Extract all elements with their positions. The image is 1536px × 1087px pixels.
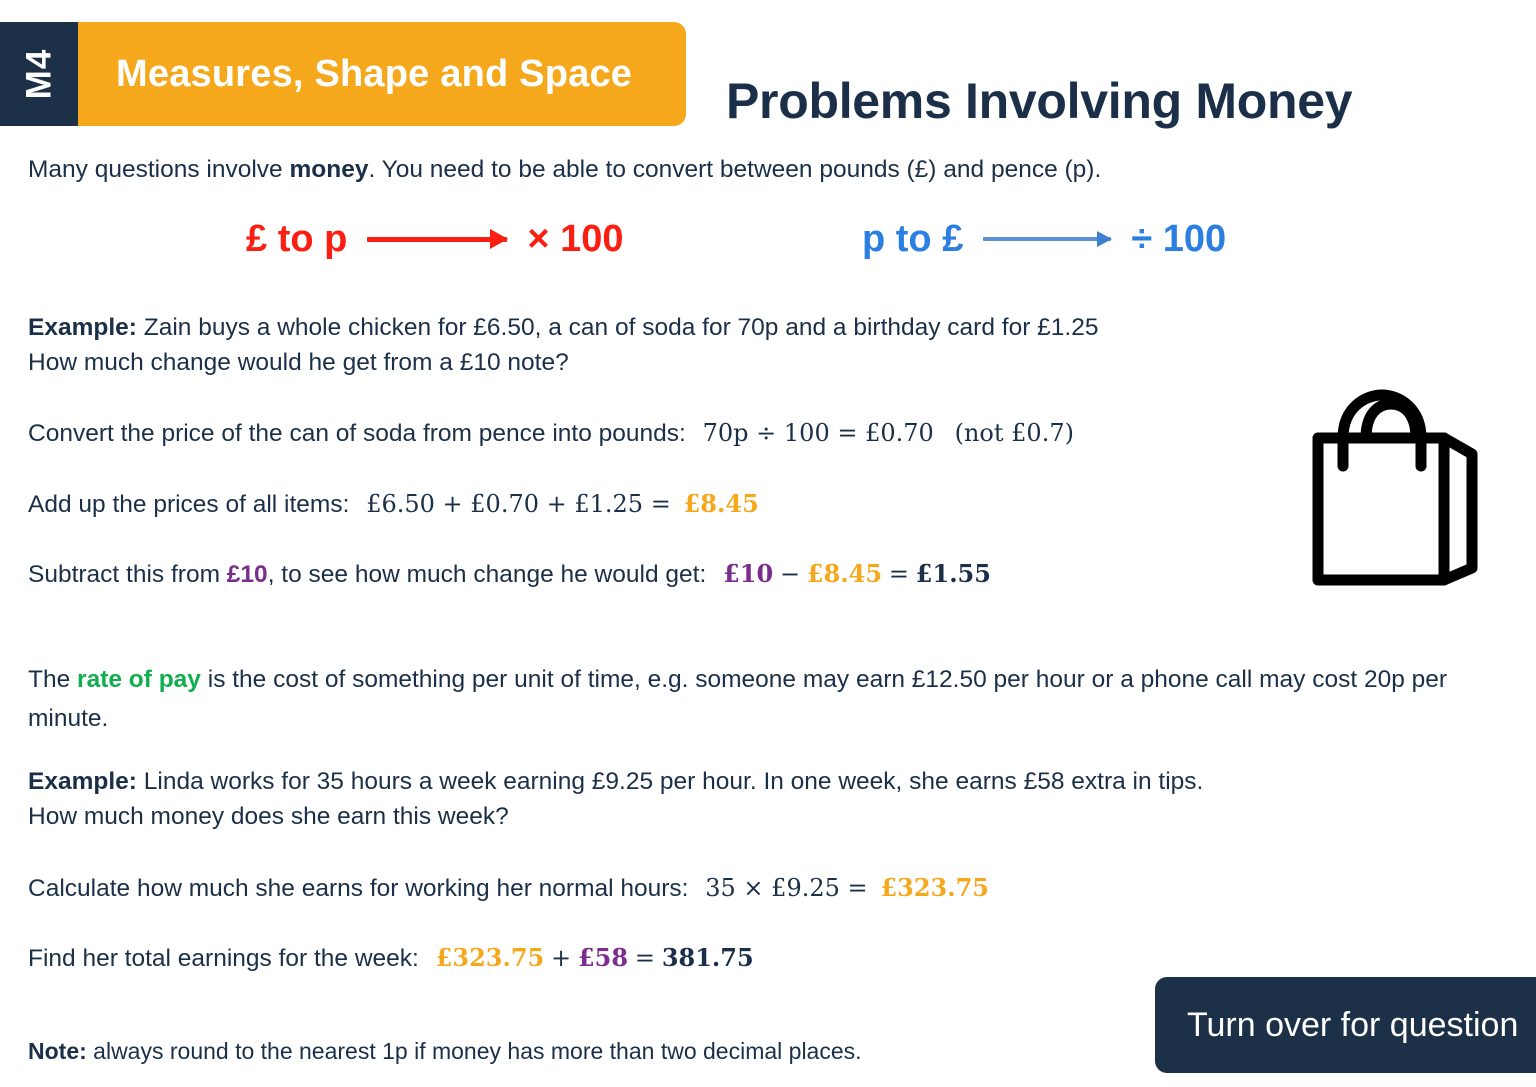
example1-step3-term1: £10 <box>713 559 773 588</box>
topic-label: Measures, Shape and Space <box>78 53 632 96</box>
example2-step1-result: £323.75 <box>874 873 989 902</box>
example1-step1-note: (not £0.7) <box>941 419 1074 447</box>
page-header: M4 Measures, Shape and Space Problems In… <box>0 22 1536 126</box>
shopping-bag-icon <box>1296 382 1486 600</box>
turn-over-label: Turn over for question <box>1155 1006 1518 1045</box>
intro-pre: Many questions involve <box>28 156 289 183</box>
conversion-pounds-to-pence: £ to p × 100 <box>246 208 623 270</box>
example2-label: Example: <box>28 768 137 795</box>
intro-text: Many questions involve money. You need t… <box>28 152 1101 187</box>
example1-step1: Convert the price of the can of soda fro… <box>28 416 1074 451</box>
example1-question-line2: How much change would he get from a £10 … <box>28 345 569 380</box>
arrow-shaft <box>367 237 507 242</box>
example2-step1: Calculate how much she earns for working… <box>28 870 989 906</box>
rate-of-pay-term: rate of pay <box>77 666 201 693</box>
example2-step2-plus: + <box>551 944 571 972</box>
note-label: Note: <box>28 1038 87 1064</box>
example2-step2-term1: £323.75 <box>426 943 545 972</box>
conversion-operation-label: ÷ 100 <box>1131 218 1226 261</box>
example2-step2-equals: = <box>635 944 655 972</box>
example1-step3: Subtract this from £10, to see how much … <box>28 556 991 592</box>
example1-question-text: Zain buys a whole chicken for £6.50, a c… <box>144 314 1099 341</box>
example2-step2-text: Find her total earnings for the week: <box>28 945 419 972</box>
example1-step2-result: £8.45 <box>678 489 759 518</box>
example1-step1-text: Convert the price of the can of soda fro… <box>28 420 686 447</box>
module-code-badge: M4 <box>0 22 78 126</box>
turn-over-button[interactable]: Turn over for question <box>1155 977 1536 1073</box>
intro-post: . You need to be able to convert between… <box>368 156 1101 183</box>
module-code-label: M4 <box>19 49 59 100</box>
arrow-head <box>490 229 508 249</box>
conversion-rules: £ to p × 100 p to £ ÷ 100 <box>0 208 1536 270</box>
example1-step3-text-post: , to see how much change he would get: <box>268 561 707 588</box>
example2-question-text: Linda works for 35 hours a week earning … <box>144 768 1204 795</box>
arrow-shaft <box>983 237 1111 241</box>
example1-question-line1: Example: Zain buys a whole chicken for £… <box>28 310 1098 345</box>
conversion-operation-label: × 100 <box>527 218 623 261</box>
example1-step3-equals: = <box>889 560 909 588</box>
example2-step2: Find her total earnings for the week: £3… <box>28 940 754 976</box>
example2-question-line1: Example: Linda works for 35 hours a week… <box>28 764 1203 799</box>
conversion-from-label: £ to p <box>246 218 347 261</box>
example1-step1-math: 70p ÷ 100 = £0.70 <box>693 419 934 447</box>
conversion-from-label: p to £ <box>862 218 963 261</box>
example1-step3-minus: − <box>780 560 800 588</box>
arrow-right-icon <box>983 236 1111 242</box>
example1-step3-amount: £10 <box>227 561 268 588</box>
arrow-right-icon <box>367 236 507 242</box>
example2-step2-term2: £58 <box>578 943 628 972</box>
rate-of-pay-paragraph: The rate of pay is the cost of something… <box>28 660 1508 738</box>
rate-of-pay-pre: The <box>28 666 77 693</box>
rate-of-pay-post: is the cost of something per unit of tim… <box>28 666 1447 732</box>
conversion-pence-to-pounds: p to £ ÷ 100 <box>862 208 1226 270</box>
arrow-head <box>1097 231 1112 247</box>
example1-label: Example: <box>28 314 137 341</box>
example1-step3-text-pre: Subtract this from <box>28 561 227 588</box>
example1-step3-term2: £8.45 <box>807 559 882 588</box>
example2-question-line2: How much money does she earn this week? <box>28 799 509 834</box>
example1-step2-text: Add up the prices of all items: <box>28 491 349 518</box>
example2-step1-text: Calculate how much she earns for working… <box>28 875 688 902</box>
note-text: Note: always round to the nearest 1p if … <box>28 1034 862 1069</box>
intro-keyword: money <box>289 156 368 183</box>
page-title: Problems Involving Money <box>726 72 1352 130</box>
example2-step1-math: 35 × £9.25 = <box>695 874 867 902</box>
example2-step2-result: 381.75 <box>662 943 754 972</box>
example1-step2: Add up the prices of all items: £6.50 + … <box>28 486 759 522</box>
note-body: always round to the nearest 1p if money … <box>87 1038 862 1064</box>
example1-step2-math: £6.50 + £0.70 + £1.25 = <box>356 490 671 518</box>
example1-step3-result: £1.55 <box>916 559 991 588</box>
topic-banner: Measures, Shape and Space <box>78 22 686 126</box>
